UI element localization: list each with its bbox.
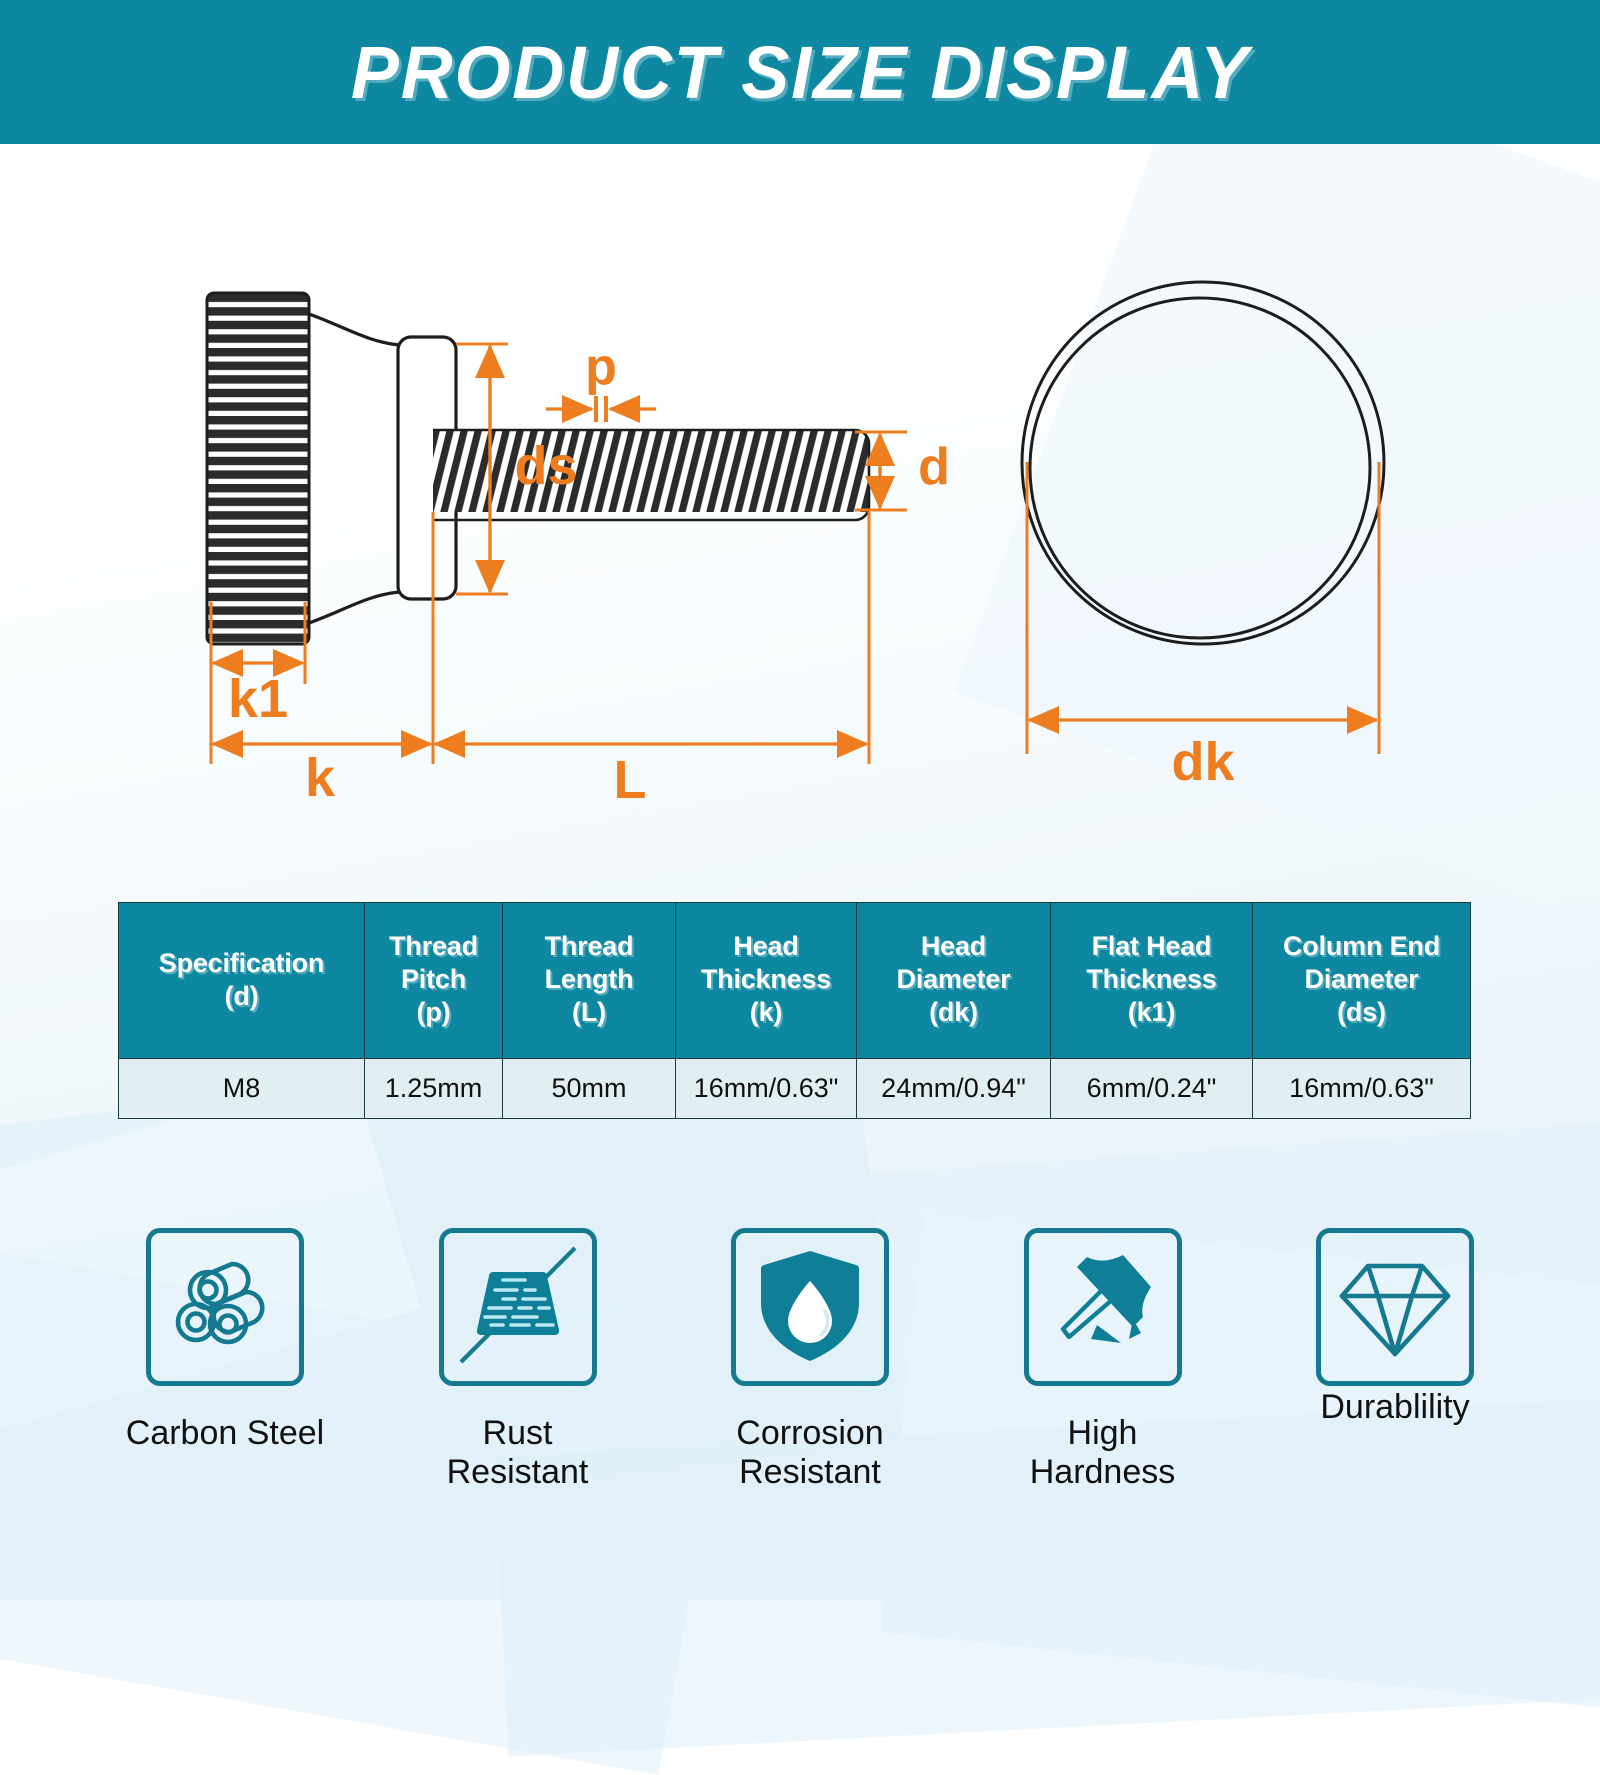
feature-icon-frame	[439, 1228, 597, 1386]
threaded-shaft	[425, 426, 877, 512]
dim-label-d: d	[918, 438, 950, 496]
table-header-thread-length: Thread Length (L)	[503, 903, 676, 1059]
header-banner: PRODUCT SIZE DISPLAY	[0, 0, 1600, 144]
cell-thread-length: 50mm	[503, 1059, 676, 1119]
rust-plate-icon	[459, 1246, 577, 1369]
cell-specification: M8	[119, 1059, 365, 1119]
feature-icon-frame	[731, 1228, 889, 1386]
feature-icon-frame	[1316, 1228, 1474, 1386]
feature-high-hardness: High Hardness	[968, 1228, 1238, 1493]
cell-column-end-diameter: 16mm/0.63"	[1253, 1059, 1471, 1119]
feature-rust-resistant: Rust Resistant	[383, 1228, 653, 1493]
dim-label-ds: ds	[514, 436, 577, 496]
dim-label-L: L	[614, 750, 647, 810]
specification-table: Specification (d) Thread Pitch (p) Threa…	[118, 902, 1471, 1119]
table-row: M8 1.25mm 50mm 16mm/0.63" 24mm/0.94" 6mm…	[119, 1059, 1471, 1119]
dim-label-k: k	[305, 748, 336, 808]
cell-head-diameter: 24mm/0.94"	[857, 1059, 1051, 1119]
dim-label-p: p	[585, 338, 617, 396]
feature-list: Carbon Steel	[90, 1228, 1530, 1548]
feature-label: Durablility	[1320, 1388, 1469, 1427]
page-title: PRODUCT SIZE DISPLAY	[351, 30, 1250, 115]
diamond-icon	[1338, 1250, 1452, 1365]
cell-head-thickness: 16mm/0.63"	[676, 1059, 857, 1119]
feature-durability: Durablility	[1260, 1228, 1530, 1427]
dim-label-dk: dk	[1171, 732, 1235, 792]
feature-corrosion-resistant: Corrosion Resistant	[675, 1228, 945, 1493]
feature-label: Carbon Steel	[126, 1414, 324, 1453]
dim-label-k1: k1	[228, 669, 288, 729]
feature-label: High Hardness	[1030, 1414, 1176, 1493]
feature-icon-frame	[146, 1228, 304, 1386]
table-header-flat-head-thickness: Flat Head Thickness (k1)	[1051, 903, 1253, 1059]
feature-label: Rust Resistant	[447, 1414, 589, 1493]
feature-icon-frame	[1024, 1228, 1182, 1386]
steel-pipes-icon	[170, 1250, 280, 1365]
knurled-head-side	[200, 286, 316, 646]
table-header-specification: Specification (d)	[119, 903, 365, 1059]
cell-thread-pitch: 1.25mm	[365, 1059, 503, 1119]
feature-carbon-steel: Carbon Steel	[90, 1228, 360, 1453]
table-header-column-end-diameter: Column End Diameter (ds)	[1253, 903, 1471, 1059]
hammer-icon	[1047, 1249, 1159, 1366]
cell-flat-head-thickness: 6mm/0.24"	[1051, 1059, 1253, 1119]
table-header-thread-pitch: Thread Pitch (p)	[365, 903, 503, 1059]
head-inner-circle	[1030, 298, 1370, 638]
table-header-head-thickness: Head Thickness (k)	[676, 903, 857, 1059]
table-header-head-diameter: Head Diameter (dk)	[857, 903, 1051, 1059]
shield-droplet-icon	[757, 1247, 863, 1368]
table-header-row: Specification (d) Thread Pitch (p) Threa…	[119, 903, 1471, 1059]
technical-drawing: ds p d k1 k L dk	[0, 144, 1600, 884]
feature-label: Corrosion Resistant	[736, 1414, 883, 1493]
